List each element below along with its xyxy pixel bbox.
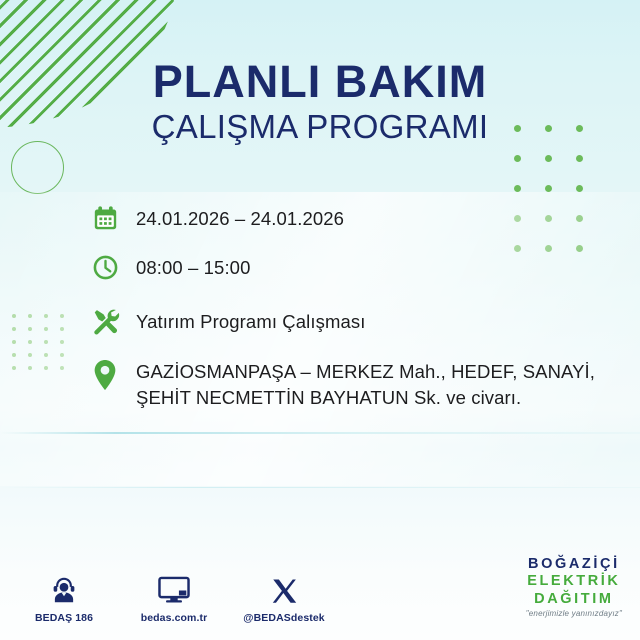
contact-channels: BEDAŞ 186 bedas.com.tr	[22, 571, 326, 624]
detail-row-location: GAZİOSMANPAŞA – MERKEZ Mah., HEDEF, SANA…	[88, 357, 618, 410]
clock-icon	[88, 249, 122, 285]
time-range-text: 08:00 – 15:00	[136, 249, 250, 281]
brand-logo: BOĞAZİÇİ ELEKTRİK DAĞITIM "enerjimizle y…	[526, 557, 622, 619]
detail-row-work-type: Yatırım Programı Çalışması	[88, 303, 618, 339]
calendar-icon	[88, 200, 122, 236]
contact-phone-label: BEDAŞ 186	[22, 612, 106, 624]
detail-row-time: 08:00 – 15:00	[88, 249, 618, 285]
wave-divider-line	[0, 432, 640, 434]
title-subtitle: ÇALIŞMA PROGRAMI	[0, 109, 640, 145]
brand-line-2: ELEKTRİK	[526, 574, 622, 589]
wave-divider-line-secondary	[0, 487, 640, 488]
page-title: PLANLI BAKIM ÇALIŞMA PROGRAMI	[0, 58, 640, 146]
dot-grid-left-decoration	[12, 314, 76, 379]
headset-support-icon	[22, 571, 106, 605]
tools-icon	[88, 303, 122, 339]
monitor-icon	[132, 571, 216, 605]
brand-line-1: BOĞAZİÇİ	[526, 557, 622, 572]
circle-outline-decoration	[11, 141, 64, 194]
x-social-icon	[242, 571, 326, 605]
location-line-1: GAZİOSMANPAŞA – MERKEZ Mah., HEDEF, SANA…	[136, 361, 595, 382]
location-line-2: ŞEHİT NECMETTİN BAYHATUN Sk. ve civarı.	[136, 387, 521, 408]
planned-maintenance-poster: PLANLI BAKIM ÇALIŞMA PROGRAMI 24.01	[0, 0, 640, 640]
footer: BEDAŞ 186 bedas.com.tr	[0, 548, 640, 640]
title-main: PLANLI BAKIM	[0, 58, 640, 105]
contact-website-label: bedas.com.tr	[132, 612, 216, 624]
contact-x-social[interactable]: @BEDASdestek	[242, 571, 326, 624]
contact-x-label: @BEDASdestek	[242, 612, 326, 624]
contact-website[interactable]: bedas.com.tr	[132, 571, 216, 624]
date-range-text: 24.01.2026 – 24.01.2026	[136, 200, 344, 232]
outage-details: 24.01.2026 – 24.01.2026 08:00 – 15:00	[88, 200, 618, 424]
detail-row-date: 24.01.2026 – 24.01.2026	[88, 200, 618, 236]
map-pin-icon	[88, 357, 122, 393]
contact-phone[interactable]: BEDAŞ 186	[22, 571, 106, 624]
brand-tagline: "enerjimizle yanınızdayız"	[526, 610, 622, 618]
brand-line-3: DAĞITIM	[526, 592, 622, 607]
work-type-text: Yatırım Programı Çalışması	[136, 303, 365, 335]
location-text: GAZİOSMANPAŞA – MERKEZ Mah., HEDEF, SANA…	[136, 357, 595, 410]
